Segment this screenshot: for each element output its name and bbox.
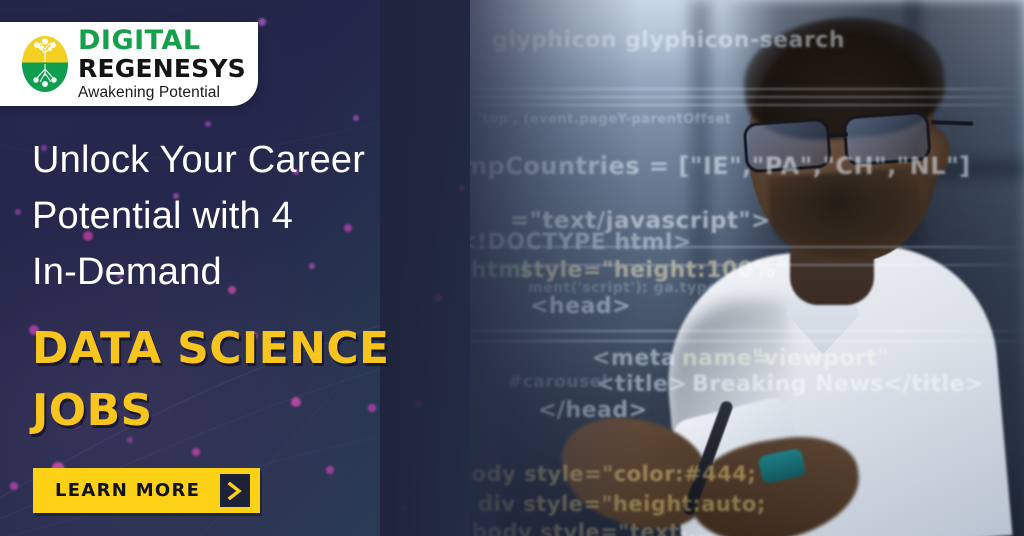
logo-tagline: Awakening Potential — [78, 85, 246, 101]
emphasis-line-2: JOBS — [32, 380, 452, 442]
particle-dot — [15, 209, 21, 215]
headline-line-1: Unlock Your Career — [32, 132, 432, 188]
learn-more-button[interactable]: LEARN MORE — [33, 468, 260, 513]
particle-dot — [401, 505, 407, 511]
logo-line-regenesys: REGENESYS — [78, 56, 246, 81]
chevron-right-icon — [220, 474, 250, 507]
particle-dot — [258, 18, 266, 26]
headline-line-2: Potential with 4 — [32, 188, 432, 244]
code-overlay-line: > — [738, 258, 757, 283]
logo-line-digital: DIGITAL — [78, 27, 246, 54]
particle-dot — [434, 294, 442, 302]
code-overlay-line: "viewport" — [752, 346, 889, 371]
particle-dot — [459, 185, 465, 191]
particle-dot — [10, 482, 18, 490]
promo-banner: glyphicon glyphicon-search'top', (event.… — [0, 0, 1024, 536]
headline-line-3: In-Demand — [32, 244, 432, 300]
learn-more-label: LEARN MORE — [55, 480, 200, 501]
particle-dot — [353, 115, 359, 121]
emphasis-line-1: DATA SCIENCE — [32, 318, 452, 380]
logo-wordmark: DIGITAL REGENESYS Awakening Potential — [78, 27, 246, 101]
emphasis-title: DATA SCIENCE JOBS — [32, 318, 452, 442]
brand-logo[interactable]: DIGITAL REGENESYS Awakening Potential — [0, 22, 258, 106]
particle-dot — [192, 448, 200, 456]
particle-dot — [326, 466, 334, 474]
particle-dot — [205, 121, 211, 127]
tree-emblem-icon — [22, 36, 68, 92]
code-overlay-line: Breaking News</title> — [692, 372, 984, 397]
page-title: Unlock Your Career Potential with 4 In-D… — [32, 132, 432, 300]
